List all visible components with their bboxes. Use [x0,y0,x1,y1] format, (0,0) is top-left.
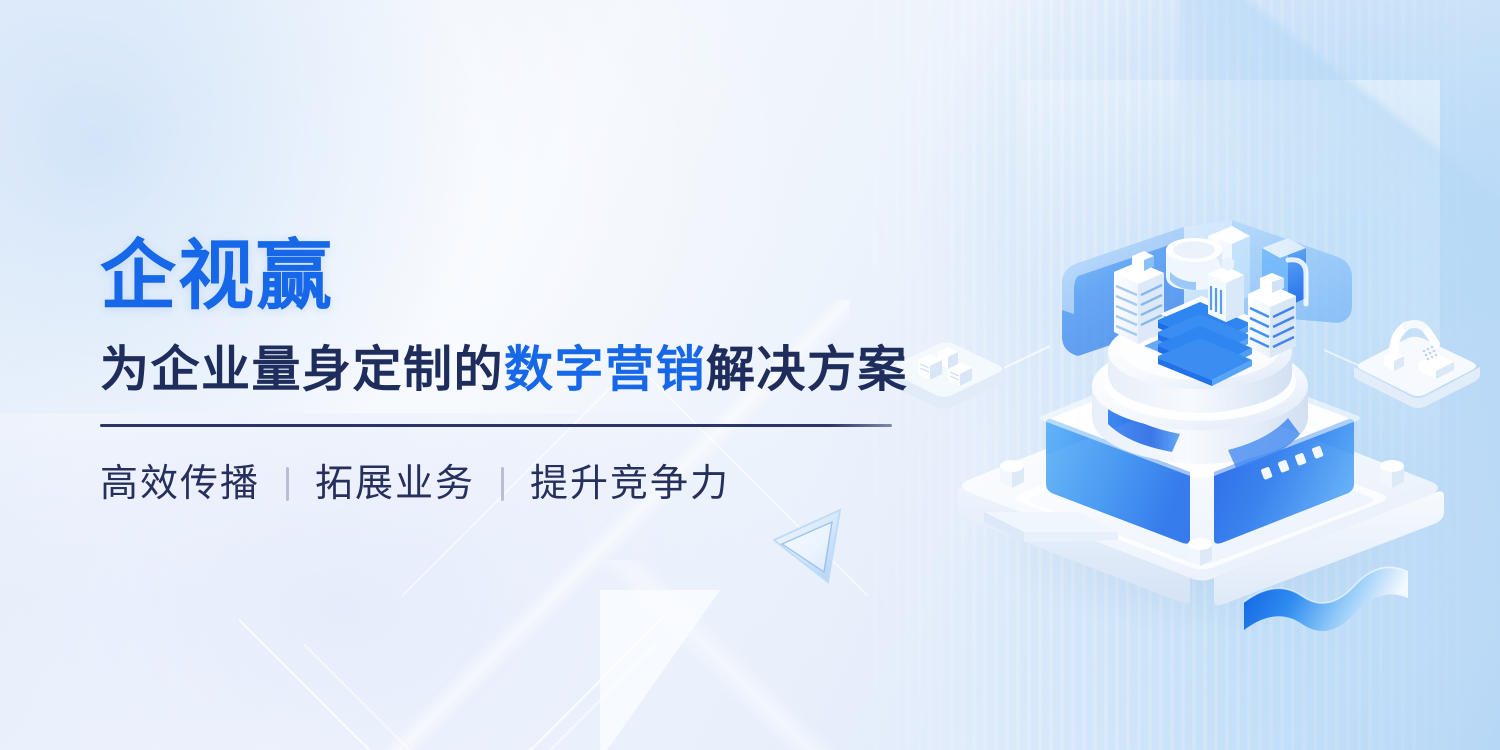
tagline-separator-2 [501,467,504,501]
headline: 为企业量身定制的数字营销解决方案 [100,341,920,399]
bg-wedge-bottom [600,590,720,750]
glass-prism [774,510,840,582]
connector-line-left [1004,346,1050,368]
headline-suffix: 解决方案 [706,341,908,398]
bg-chevron-2 [303,468,657,750]
headline-prefix: 为企业量身定制的 [100,341,504,398]
tagline-item-2: 拓展业务 [315,461,475,507]
divider-line [100,424,892,427]
headline-accent: 数字营销 [504,341,706,398]
bg-diagonal-line-2 [560,560,980,750]
marketing-banner: 企视赢 为企业量身定制的数字营销解决方案 高效传播 拓展业务 提升竞争力 [0,0,1500,750]
connector-line-right [1324,350,1360,366]
tagline-item-1: 高效传播 [100,461,260,507]
tagline-item-3: 提升竞争力 [530,461,730,507]
satellite-robot-tile [1354,324,1480,408]
tagline: 高效传播 拓展业务 提升竞争力 [100,461,920,507]
tagline-separator-1 [286,467,289,501]
hero-illustration [932,210,1472,680]
brand-title: 企视赢 [100,236,920,317]
banner-content: 企视赢 为企业量身定制的数字营销解决方案 高效传播 拓展业务 提升竞争力 [100,236,920,507]
